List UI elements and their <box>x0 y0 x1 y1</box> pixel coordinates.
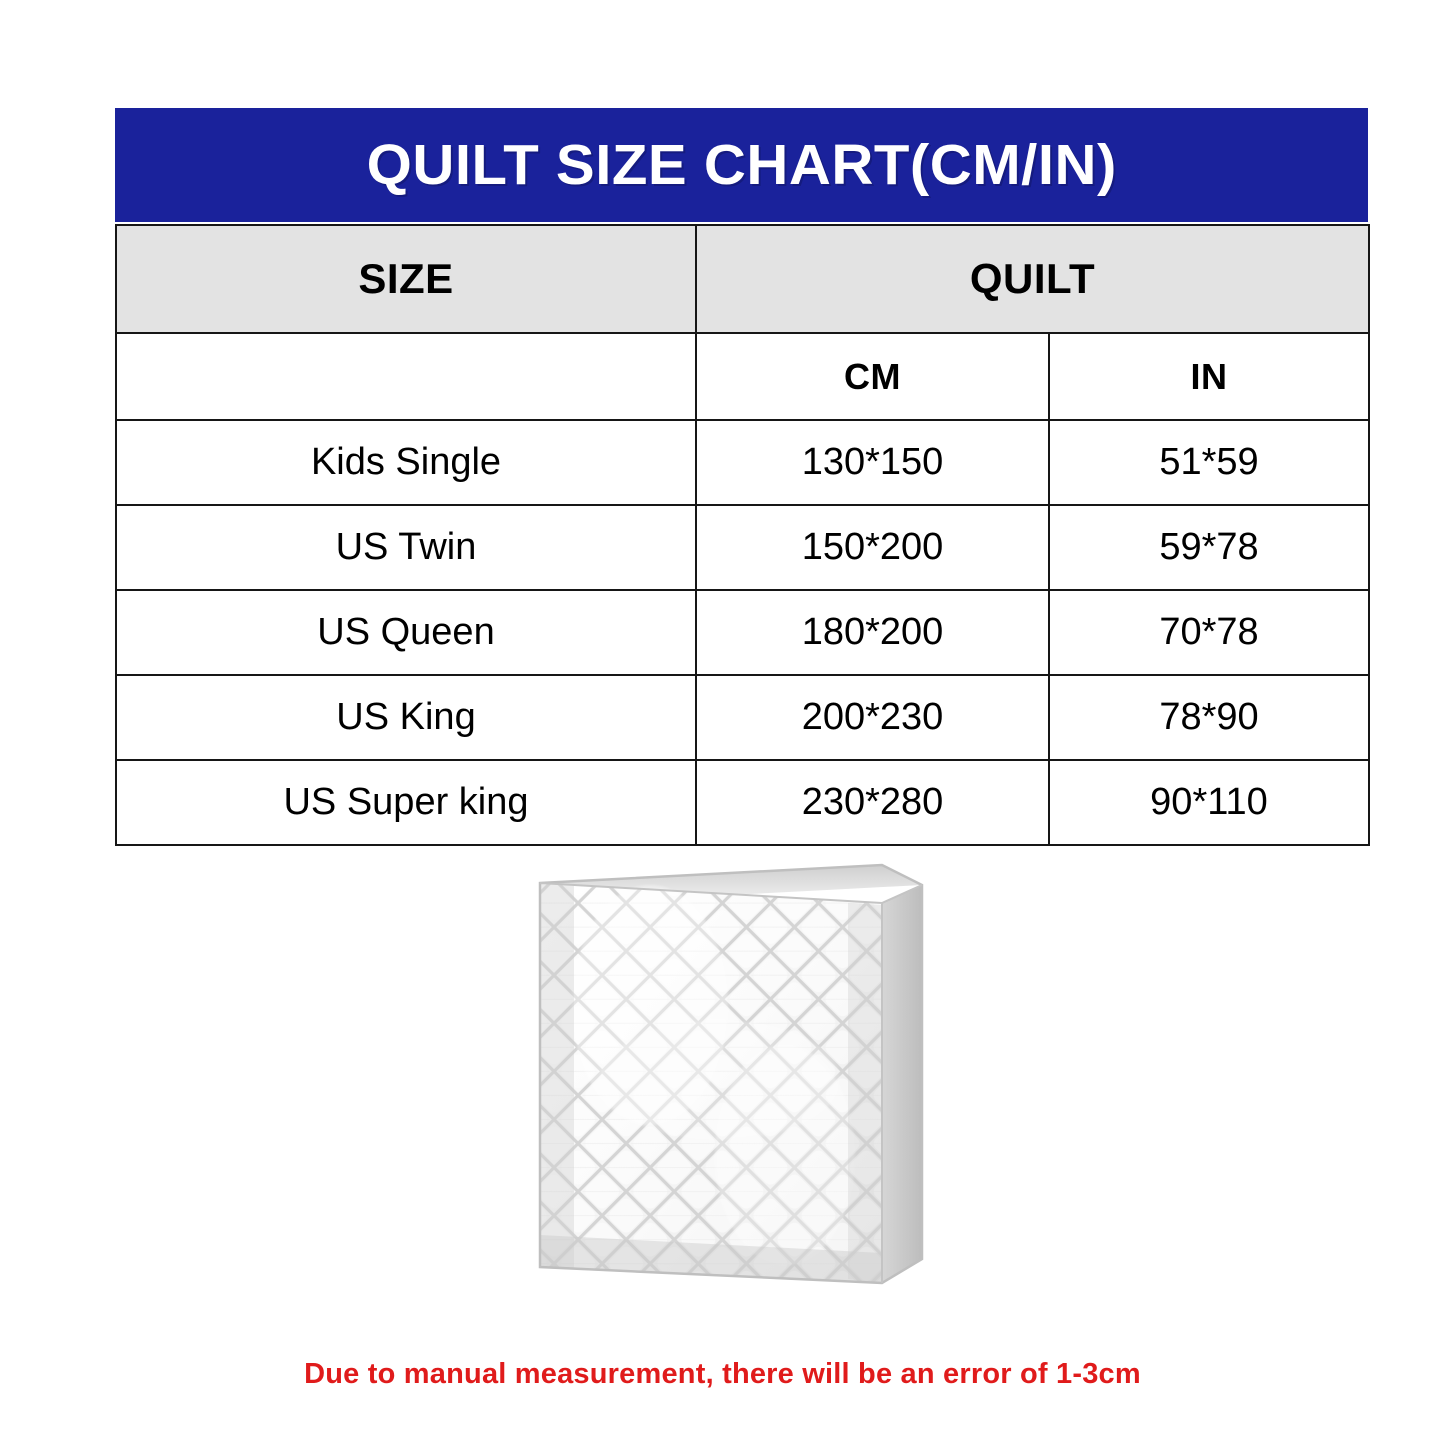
cell-size: US Twin <box>116 505 696 590</box>
cell-in: 51*59 <box>1049 420 1369 505</box>
table-row: US Super king 230*280 90*110 <box>116 760 1369 845</box>
table-row: US King 200*230 78*90 <box>116 675 1369 760</box>
header-cell-quilt: QUILT <box>696 225 1369 333</box>
quilt-side-edge <box>882 885 922 1283</box>
table-row: US Twin 150*200 59*78 <box>116 505 1369 590</box>
size-chart-page: QUILT SIZE CHART(CM/IN) SIZE QUILT CM IN… <box>0 0 1445 1445</box>
quilt-left-shadow <box>540 883 574 1269</box>
cell-size: US Queen <box>116 590 696 675</box>
table-row: Kids Single 130*150 51*59 <box>116 420 1369 505</box>
cell-cm: 130*150 <box>696 420 1049 505</box>
cell-size: US Super king <box>116 760 696 845</box>
quilt-size-table: SIZE QUILT CM IN Kids Single 130*150 51*… <box>115 224 1370 846</box>
header-cell-blank <box>116 333 696 420</box>
cell-size: US King <box>116 675 696 760</box>
table-unit-header-row: CM IN <box>116 333 1369 420</box>
cell-cm: 180*200 <box>696 590 1049 675</box>
header-cell-in: IN <box>1049 333 1369 420</box>
page-title: QUILT SIZE CHART(CM/IN) <box>366 137 1116 194</box>
chart-title-banner: QUILT SIZE CHART(CM/IN) <box>115 108 1368 222</box>
cell-cm: 200*230 <box>696 675 1049 760</box>
cell-in: 78*90 <box>1049 675 1369 760</box>
measurement-disclaimer: Due to manual measurement, there will be… <box>0 1358 1445 1391</box>
quilt-right-shadow <box>848 903 882 1283</box>
cell-cm: 230*280 <box>696 760 1049 845</box>
header-cell-cm: CM <box>696 333 1049 420</box>
cell-in: 70*78 <box>1049 590 1369 675</box>
table-row: US Queen 180*200 70*78 <box>116 590 1369 675</box>
cell-cm: 150*200 <box>696 505 1049 590</box>
header-cell-size: SIZE <box>116 225 696 333</box>
cell-in: 90*110 <box>1049 760 1369 845</box>
cell-in: 59*78 <box>1049 505 1369 590</box>
cell-size: Kids Single <box>116 420 696 505</box>
quilt-illustration <box>530 855 930 1300</box>
table-group-header-row: SIZE QUILT <box>116 225 1369 333</box>
quilt-product-image <box>530 855 930 1300</box>
